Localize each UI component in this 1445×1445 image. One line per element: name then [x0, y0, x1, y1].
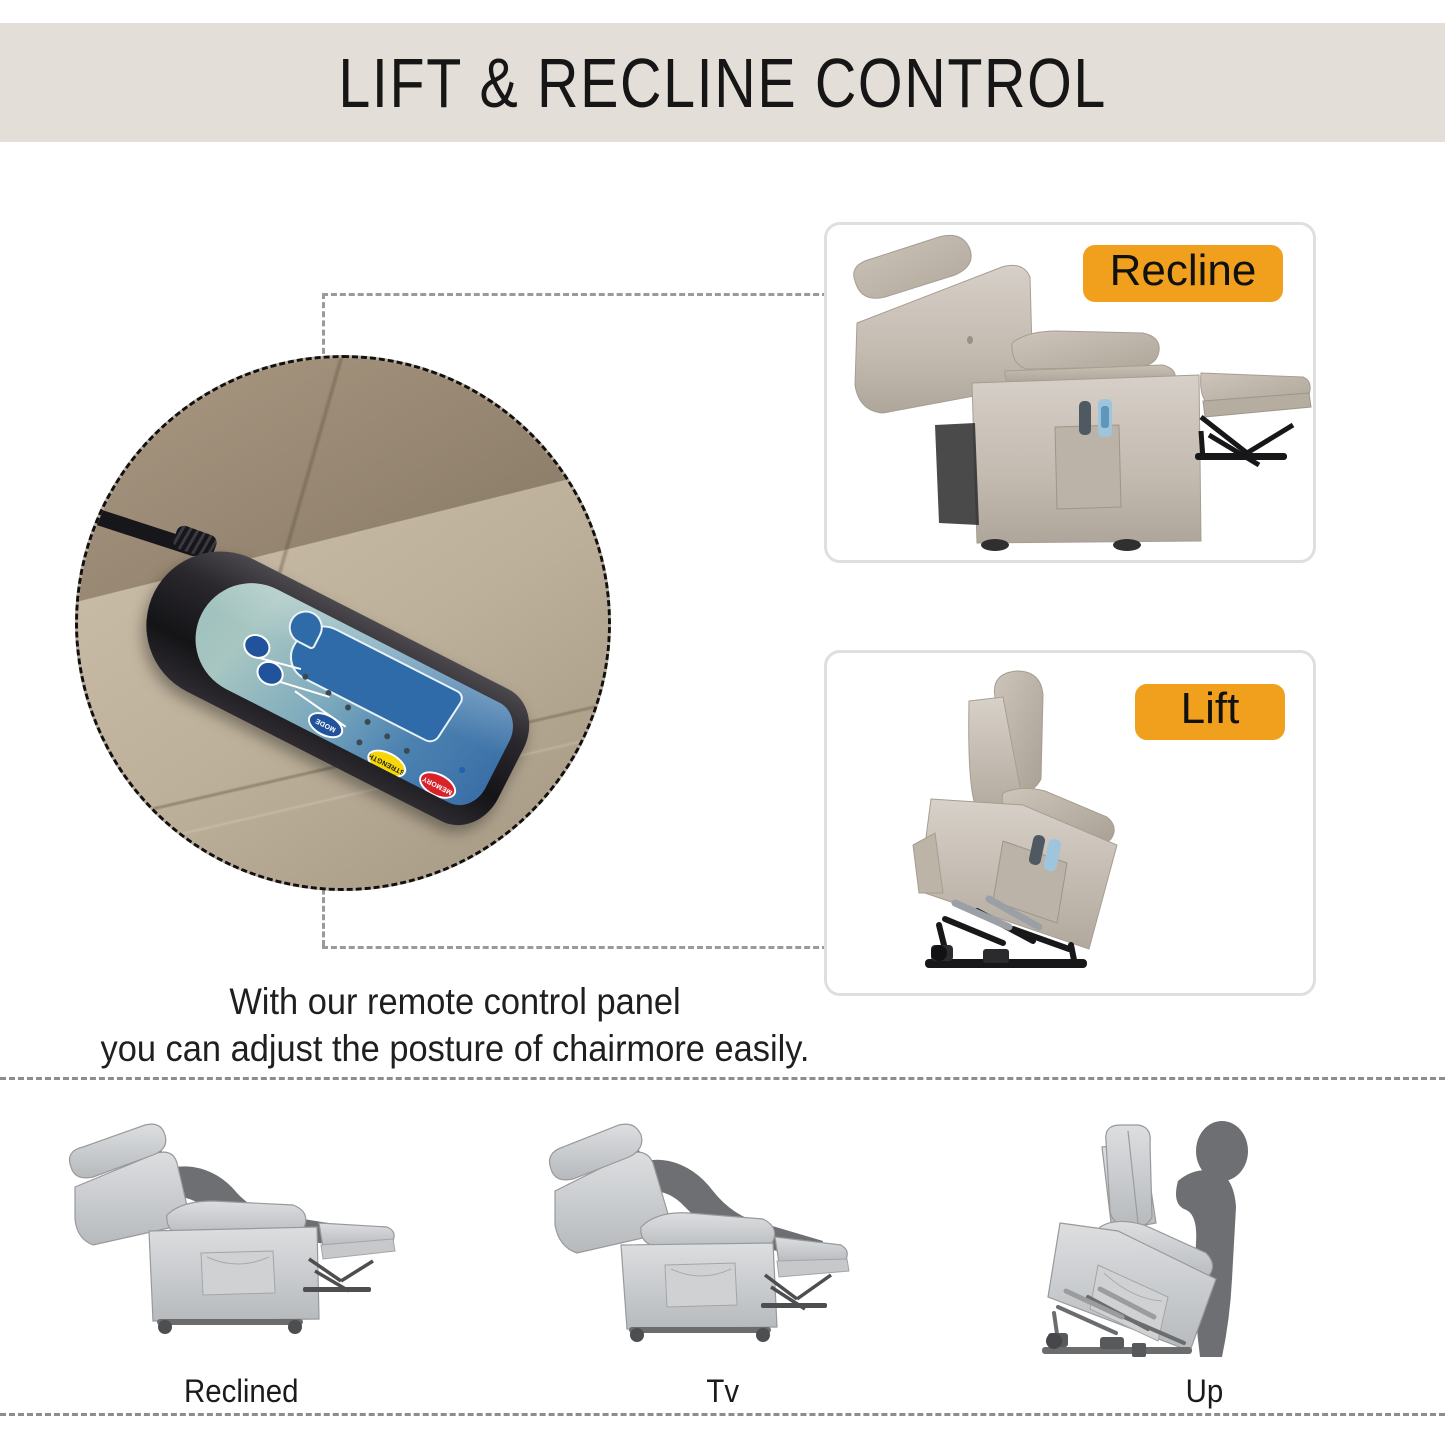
divider-bottom [0, 1413, 1445, 1416]
connector-top-vertical [322, 293, 325, 363]
led-indicator [403, 747, 411, 755]
page-title: LIFT & RECLINE CONTROL [338, 48, 1107, 118]
card-lift: Lift [824, 650, 1316, 996]
armrest-photo: MODE STRENGTH MEMORY LIFT [78, 358, 608, 888]
led-indicator [344, 703, 352, 711]
badge-lift: Lift [1135, 684, 1285, 740]
led-indicator [383, 732, 391, 740]
reclined-chair-illustration [41, 1119, 441, 1369]
divider-top [0, 1077, 1445, 1080]
badge-recline: Recline [1083, 245, 1283, 302]
gallery-item-up: Up [963, 1090, 1445, 1410]
gallery-item-reclined: Reclined [0, 1090, 482, 1410]
header-banner: LIFT & RECLINE CONTROL [0, 23, 1445, 142]
reclined-figure [41, 1119, 441, 1369]
caption-line-2: you can adjust the posture of chairmore … [88, 1025, 823, 1072]
caption-line-1: With our remote control panel [88, 978, 823, 1025]
mode-dot-button[interactable] [252, 656, 288, 690]
position-gallery: Reclined [0, 1090, 1445, 1410]
led-indicator [355, 738, 363, 746]
up-chair-illustration [1004, 1119, 1404, 1369]
gallery-item-tv: Tv [482, 1090, 964, 1410]
caption-block: With our remote control panel you can ad… [88, 978, 823, 1073]
gallery-label-tv: Tv [706, 1373, 739, 1410]
connector-bottom-horizontal [322, 946, 828, 949]
up-figure [1004, 1119, 1404, 1369]
led-indicator-power [458, 766, 466, 774]
tv-chair-illustration [523, 1119, 923, 1369]
led-indicator [364, 718, 372, 726]
tv-figure [523, 1119, 923, 1369]
gallery-label-up: Up [1185, 1373, 1223, 1410]
card-recline: Recline [824, 222, 1316, 563]
connector-top-horizontal [322, 293, 828, 296]
gallery-label-reclined: Reclined [184, 1373, 299, 1410]
remote-closeup-callout: MODE STRENGTH MEMORY LIFT [75, 355, 611, 891]
